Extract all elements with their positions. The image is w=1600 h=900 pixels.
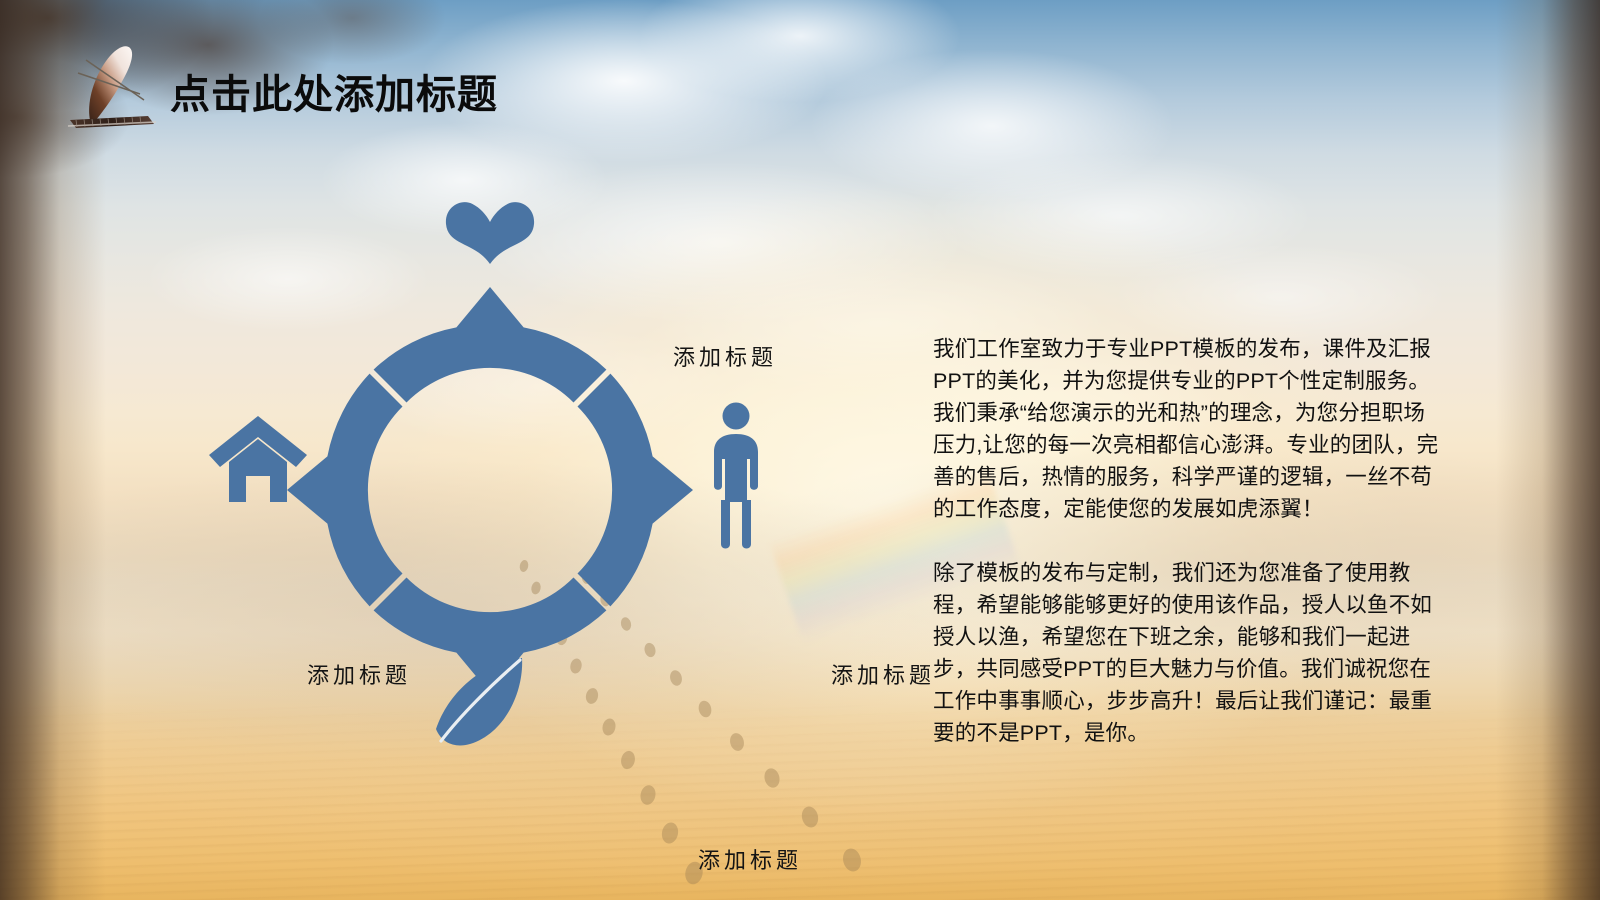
body-text-block: 我们工作室致力于专业PPT模板的发布，课件及汇报PPT的美化，并为您提供专业的P… — [933, 333, 1445, 749]
cycle-diagram: 添加标题 添加标题 添加标题 添加标题 — [150, 150, 850, 770]
page-title: 点击此处添加标题 — [170, 62, 498, 120]
cycle-label-top: 添加标题 — [673, 340, 777, 372]
quill-pen-logo-icon — [62, 38, 172, 130]
cycle-ring-graphic — [150, 150, 850, 770]
cycle-label-left: 添加标题 — [307, 658, 411, 690]
cycle-label-right: 添加标题 — [831, 658, 935, 690]
cycle-label-bottom: 添加标题 — [698, 843, 802, 875]
body-paragraph-2: 除了模板的发布与定制，我们还为您准备了使用教程，希望能够能够更好的使用该作品，授… — [933, 557, 1445, 749]
paragraph-spacer — [933, 525, 1445, 557]
heart-icon — [446, 202, 534, 264]
body-paragraph-1: 我们工作室致力于专业PPT模板的发布，课件及汇报PPT的美化，并为您提供专业的P… — [933, 333, 1445, 525]
person-icon — [714, 403, 758, 549]
presentation-slide: 点击此处添加标题 — [0, 0, 1600, 900]
